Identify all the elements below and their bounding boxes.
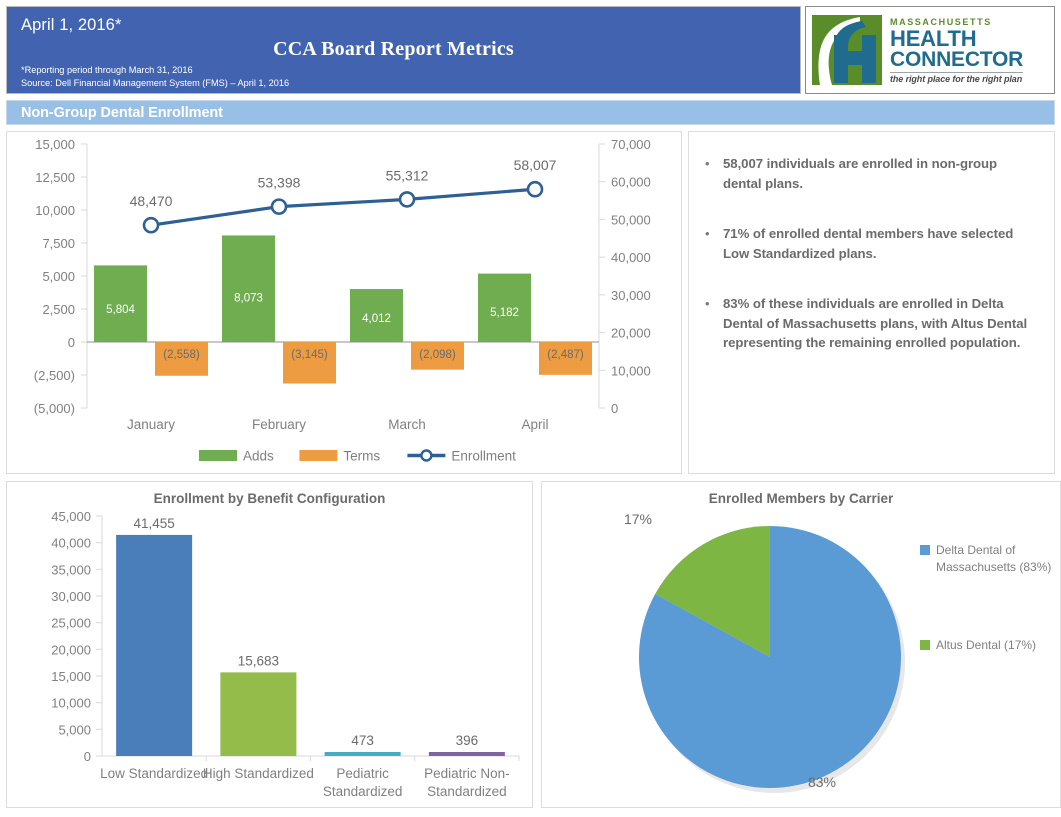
health-connector-logo: MASSACHUSETTS HEALTH CONNECTOR the right…	[805, 6, 1055, 94]
svg-text:60,000: 60,000	[611, 175, 651, 190]
svg-text:20,000: 20,000	[611, 326, 651, 341]
enrollment-combo-chart-panel: 15,00012,50010,0007,5005,0002,5000(2,500…	[6, 131, 682, 474]
benefit-chart-title: Enrollment by Benefit Configuration	[7, 491, 532, 506]
bar-category-labels: Low StandardizedHigh StandardizedPediatr…	[100, 766, 510, 799]
note-text: 58,007 individuals are enrolled in non-g…	[723, 154, 1036, 193]
svg-text:15,000: 15,000	[51, 669, 91, 684]
enrollment-line	[151, 189, 535, 225]
note-text: 83% of these individuals are enrolled in…	[723, 294, 1036, 353]
pie-plot-area: 17%83%	[624, 511, 905, 793]
svg-text:(2,487): (2,487)	[547, 349, 584, 361]
bullet-icon: •	[705, 224, 713, 263]
bar-category-label: Pediatric Non-	[424, 766, 510, 781]
svg-text:25,000: 25,000	[51, 616, 91, 631]
left-axis: 15,00012,50010,0007,5005,0002,5000(2,500…	[34, 137, 87, 416]
svg-text:0: 0	[68, 335, 75, 350]
x-axis-label: April	[521, 417, 548, 432]
svg-text:(5,000): (5,000)	[34, 401, 75, 416]
bullet-icon: •	[705, 154, 713, 193]
section-header: Non-Group Dental Enrollment	[6, 100, 1055, 125]
note-item: • 83% of these individuals are enrolled …	[705, 294, 1036, 353]
report-page: April 1, 2016* CCA Board Report Metrics …	[0, 0, 1061, 817]
legend-swatch	[199, 450, 237, 461]
top-row: 15,00012,50010,0007,5005,0002,5000(2,500…	[6, 131, 1055, 474]
footnote-line-1: *Reporting period through March 31, 2016	[21, 64, 289, 77]
note-item: • 58,007 individuals are enrolled in non…	[705, 154, 1036, 193]
svg-text:45,000: 45,000	[51, 509, 91, 524]
svg-text:5,000: 5,000	[58, 722, 91, 737]
svg-text:40,000: 40,000	[611, 250, 651, 265]
category-labels: JanuaryFebruaryMarchApril	[127, 417, 549, 432]
pie-legend-swatch	[920, 545, 930, 555]
svg-text:55,312: 55,312	[386, 167, 429, 183]
svg-text:58,007: 58,007	[514, 157, 557, 173]
svg-text:5,804: 5,804	[106, 304, 135, 316]
svg-text:30,000: 30,000	[611, 288, 651, 303]
svg-text:2,500: 2,500	[42, 302, 75, 317]
config-bar	[116, 535, 192, 756]
svg-text:5,182: 5,182	[490, 307, 519, 319]
x-axis-label: February	[252, 417, 306, 432]
config-bar	[429, 752, 505, 756]
report-header: April 1, 2016* CCA Board Report Metrics …	[6, 6, 1055, 94]
pie-legend-label: Delta Dental of	[936, 543, 1016, 557]
pie-legend-swatch	[920, 640, 930, 650]
bar-value-label: 15,683	[238, 653, 279, 668]
svg-text:30,000: 30,000	[51, 589, 91, 604]
bar-category-label: High Standardized	[203, 766, 314, 781]
svg-text:(2,558): (2,558)	[163, 349, 200, 361]
pie-legend-label: Massachusetts (83%)	[936, 560, 1051, 574]
legend-swatch	[299, 450, 337, 461]
legend-label: Enrollment	[451, 449, 516, 464]
bar-category-label: Standardized	[323, 784, 403, 799]
pie-legend-label: Altus Dental (17%)	[936, 638, 1036, 652]
combo-plot-area: 5,804(2,558)8,073(3,145)4,012(2,098)5,18…	[94, 157, 592, 383]
svg-text:70,000: 70,000	[611, 137, 651, 152]
svg-text:7,500: 7,500	[42, 236, 75, 251]
svg-text:10,000: 10,000	[611, 363, 651, 378]
header-footnote: *Reporting period through March 31, 2016…	[21, 64, 289, 89]
logo-tagline: the right place for the right plan	[890, 74, 1023, 84]
bar-value-label: 41,455	[133, 516, 174, 531]
enrollment-marker	[144, 218, 158, 232]
note-text: 71% of enrolled dental members have sele…	[723, 224, 1036, 263]
page-title: CCA Board Report Metrics	[7, 38, 800, 61]
members-by-carrier-panel: Enrolled Members by Carrier 17%83% Delta…	[541, 481, 1061, 808]
enrollment-marker	[272, 200, 286, 214]
bar-category-label: Pediatric	[336, 766, 389, 781]
svg-text:0: 0	[611, 401, 618, 416]
report-date: April 1, 2016*	[21, 16, 121, 35]
footnote-line-2: Source: Dell Financial Management System…	[21, 77, 289, 90]
pie-slice-label: 17%	[624, 511, 652, 527]
x-axis-label: January	[127, 417, 175, 432]
note-item: • 71% of enrolled dental members have se…	[705, 224, 1036, 263]
svg-text:15,000: 15,000	[35, 137, 75, 152]
svg-text:10,000: 10,000	[35, 203, 75, 218]
svg-text:20,000: 20,000	[51, 642, 91, 657]
bar-value-label: 473	[351, 733, 374, 748]
y-axis: 45,00040,00035,00030,00025,00020,00015,0…	[51, 509, 102, 764]
enrollment-marker	[528, 182, 542, 196]
legend-label: Adds	[243, 449, 274, 464]
bar-plot-area: 41,45515,683473396	[116, 516, 519, 761]
config-bar	[220, 672, 296, 756]
svg-text:50,000: 50,000	[611, 212, 651, 227]
pie-slice-label: 83%	[808, 774, 836, 790]
svg-text:8,073: 8,073	[234, 293, 263, 305]
pie-chart-title: Enrolled Members by Carrier	[542, 491, 1060, 506]
svg-text:53,398: 53,398	[258, 175, 301, 191]
svg-text:5,000: 5,000	[42, 269, 75, 284]
logo-word-health: HEALTH	[890, 28, 1023, 49]
bar-value-label: 396	[456, 733, 479, 748]
adds-bar	[222, 235, 275, 342]
key-findings-panel: • 58,007 individuals are enrolled in non…	[688, 131, 1055, 474]
bar-category-label: Standardized	[427, 784, 507, 799]
section-title: Non-Group Dental Enrollment	[7, 105, 223, 121]
svg-text:(2,098): (2,098)	[419, 349, 456, 361]
svg-text:4,012: 4,012	[362, 313, 391, 325]
enrollment-marker	[400, 192, 414, 206]
chart-legend: AddsTermsEnrollment	[199, 449, 516, 464]
config-bar	[325, 752, 401, 756]
right-axis: 70,00060,00050,00040,00030,00020,00010,0…	[599, 137, 651, 416]
legend-label: Terms	[343, 449, 380, 464]
svg-text:10,000: 10,000	[51, 696, 91, 711]
benefit-configuration-chart: 45,00040,00035,00030,00025,00020,00015,0…	[7, 482, 532, 807]
logo-wordmark: MASSACHUSETTS HEALTH CONNECTOR the right…	[890, 17, 1023, 84]
svg-text:0: 0	[84, 749, 91, 764]
header-band: April 1, 2016* CCA Board Report Metrics …	[6, 6, 801, 94]
benefit-configuration-panel: Enrollment by Benefit Configuration 45,0…	[6, 481, 533, 808]
logo-mark-icon	[810, 13, 884, 87]
svg-text:(3,145): (3,145)	[291, 349, 328, 361]
svg-text:35,000: 35,000	[51, 562, 91, 577]
pie-legend: Delta Dental ofMassachusetts (83%)Altus …	[920, 543, 1051, 652]
bottom-row: Enrollment by Benefit Configuration 45,0…	[6, 481, 1055, 808]
svg-text:48,470: 48,470	[130, 193, 173, 209]
svg-text:40,000: 40,000	[51, 536, 91, 551]
bullet-icon: •	[705, 294, 713, 353]
svg-text:12,500: 12,500	[35, 170, 75, 185]
bar-category-label: Low Standardized	[100, 766, 208, 781]
x-axis-label: March	[388, 417, 426, 432]
members-by-carrier-chart: 17%83% Delta Dental ofMassachusetts (83%…	[542, 482, 1060, 807]
logo-divider	[890, 72, 1023, 73]
logo-word-connector: CONNECTOR	[890, 49, 1023, 70]
svg-text:(2,500): (2,500)	[34, 368, 75, 383]
enrollment-combo-chart: 15,00012,50010,0007,5005,0002,5000(2,500…	[7, 132, 681, 473]
